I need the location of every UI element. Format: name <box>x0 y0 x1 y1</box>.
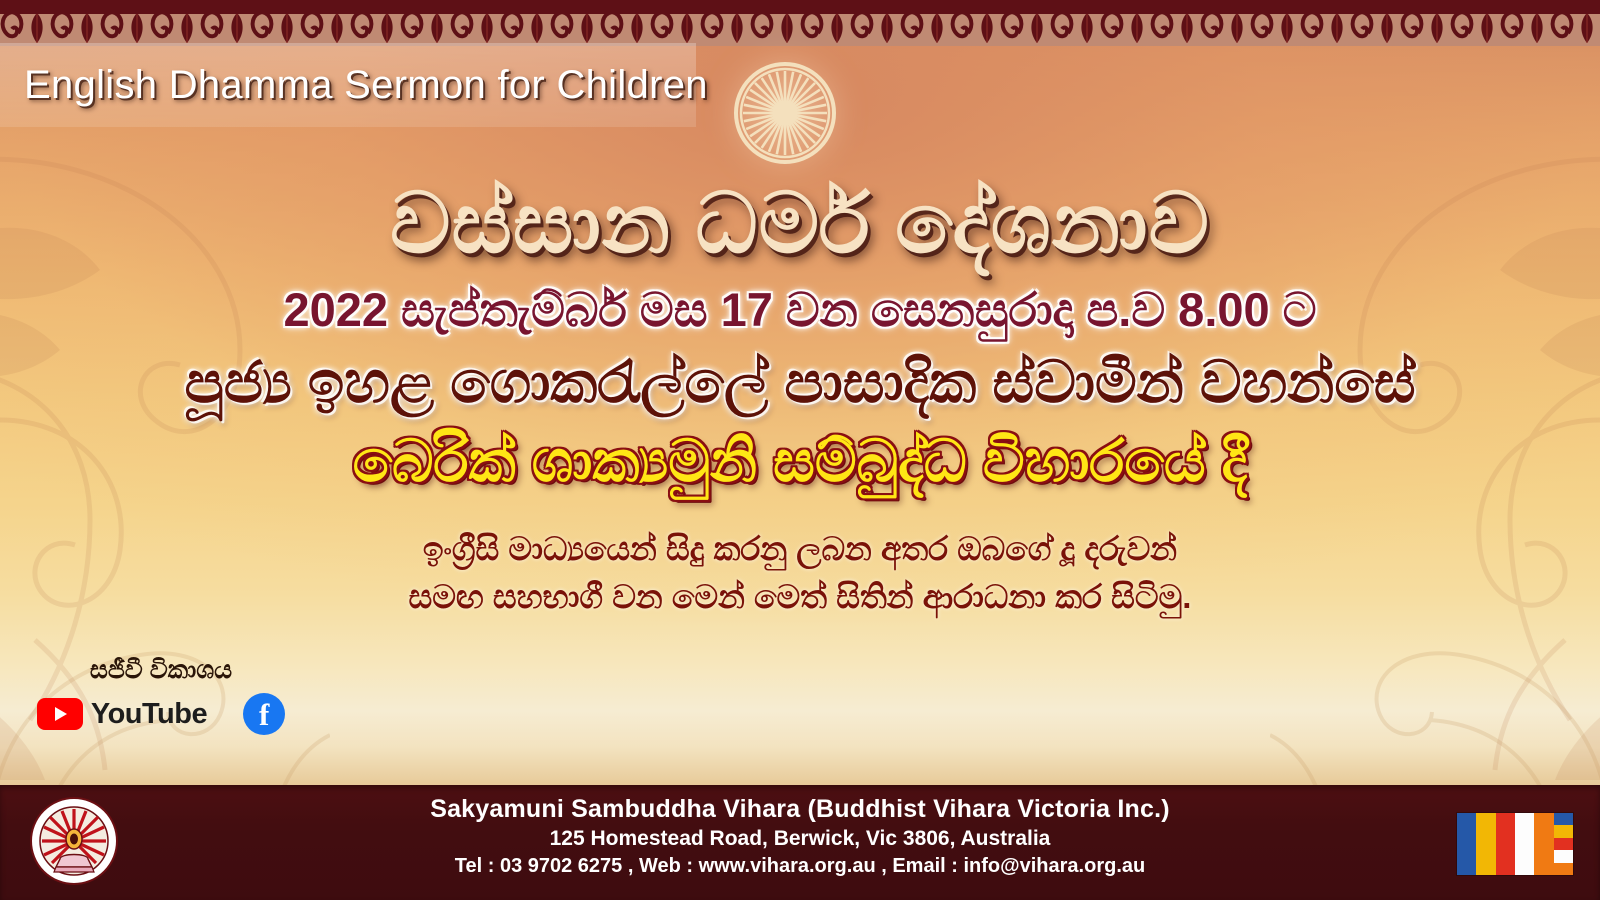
facebook-icon[interactable]: f <box>243 693 285 735</box>
live-broadcast-label: සජීවී විකාශය <box>16 656 306 685</box>
footer-organisation: Sakyamuni Sambuddha Vihara (Buddhist Vih… <box>160 795 1440 824</box>
flag-stripe-orange <box>1534 813 1553 875</box>
youtube-play-triangle <box>55 707 67 721</box>
youtube-icon <box>37 698 83 730</box>
flag-stripe-yellow <box>1476 813 1495 875</box>
footer-bar: Sakyamuni Sambuddha Vihara (Buddhist Vih… <box>0 785 1600 900</box>
invitation-line-1: ඉංග්‍රීසි මාධ්‍යයෙන් සිදු කරනු ලබන අතර ඔ… <box>0 525 1600 573</box>
flag-stripe-white <box>1515 813 1534 875</box>
dharma-wheel-icon <box>733 61 837 165</box>
event-speaker: පූජ්‍ය ඉහළ ගොකරැල්ලේ පාසාදික ස්වාමීන් වහ… <box>0 351 1600 416</box>
footer-address: 125 Homestead Road, Berwick, Vic 3806, A… <box>160 827 1440 851</box>
footer-contact-block: Sakyamuni Sambuddha Vihara (Buddhist Vih… <box>160 795 1440 878</box>
youtube-label: YouTube <box>91 698 207 731</box>
poster-canvas: English Dhamma Sermon for Children වස්ස <box>0 0 1600 900</box>
border-top-band <box>0 0 1600 14</box>
top-decorative-border <box>0 0 1600 46</box>
header-title-box: English Dhamma Sermon for Children <box>0 43 696 127</box>
buddhist-flag-icon <box>1456 812 1574 876</box>
flag-stripe-composite <box>1554 813 1573 875</box>
event-title: වස්සාන ධර්ම දේශනාව <box>0 178 1600 269</box>
youtube-link[interactable]: YouTube <box>37 698 207 731</box>
social-links-row: YouTube f <box>16 693 306 735</box>
invitation-line-2: සමඟ සහභාගී වන මෙන් මෙත් සිතින් ආරාධනා කර… <box>0 573 1600 621</box>
main-content: වස්සාන ධර්ම දේශනාව 2022 සැප්තැම්බර් මස 1… <box>0 178 1600 620</box>
flag-stripe-blue <box>1457 813 1476 875</box>
page-title: English Dhamma Sermon for Children <box>24 63 708 108</box>
live-broadcast-block: සජීවී විකාශය YouTube f <box>16 656 306 735</box>
flag-stripe-red <box>1496 813 1515 875</box>
event-venue: බෙරික් ශාක්‍යමුනි සම්බුද්ධ විහාරයේ දී <box>0 430 1600 495</box>
footer-contact: Tel : 03 9702 6275 , Web : www.vihara.or… <box>160 855 1440 878</box>
vihara-crest-icon <box>30 797 118 885</box>
event-datetime: 2022 සැප්තැම්බර් මස 17 වන සෙනසුරාදා ප.ව … <box>0 283 1600 337</box>
